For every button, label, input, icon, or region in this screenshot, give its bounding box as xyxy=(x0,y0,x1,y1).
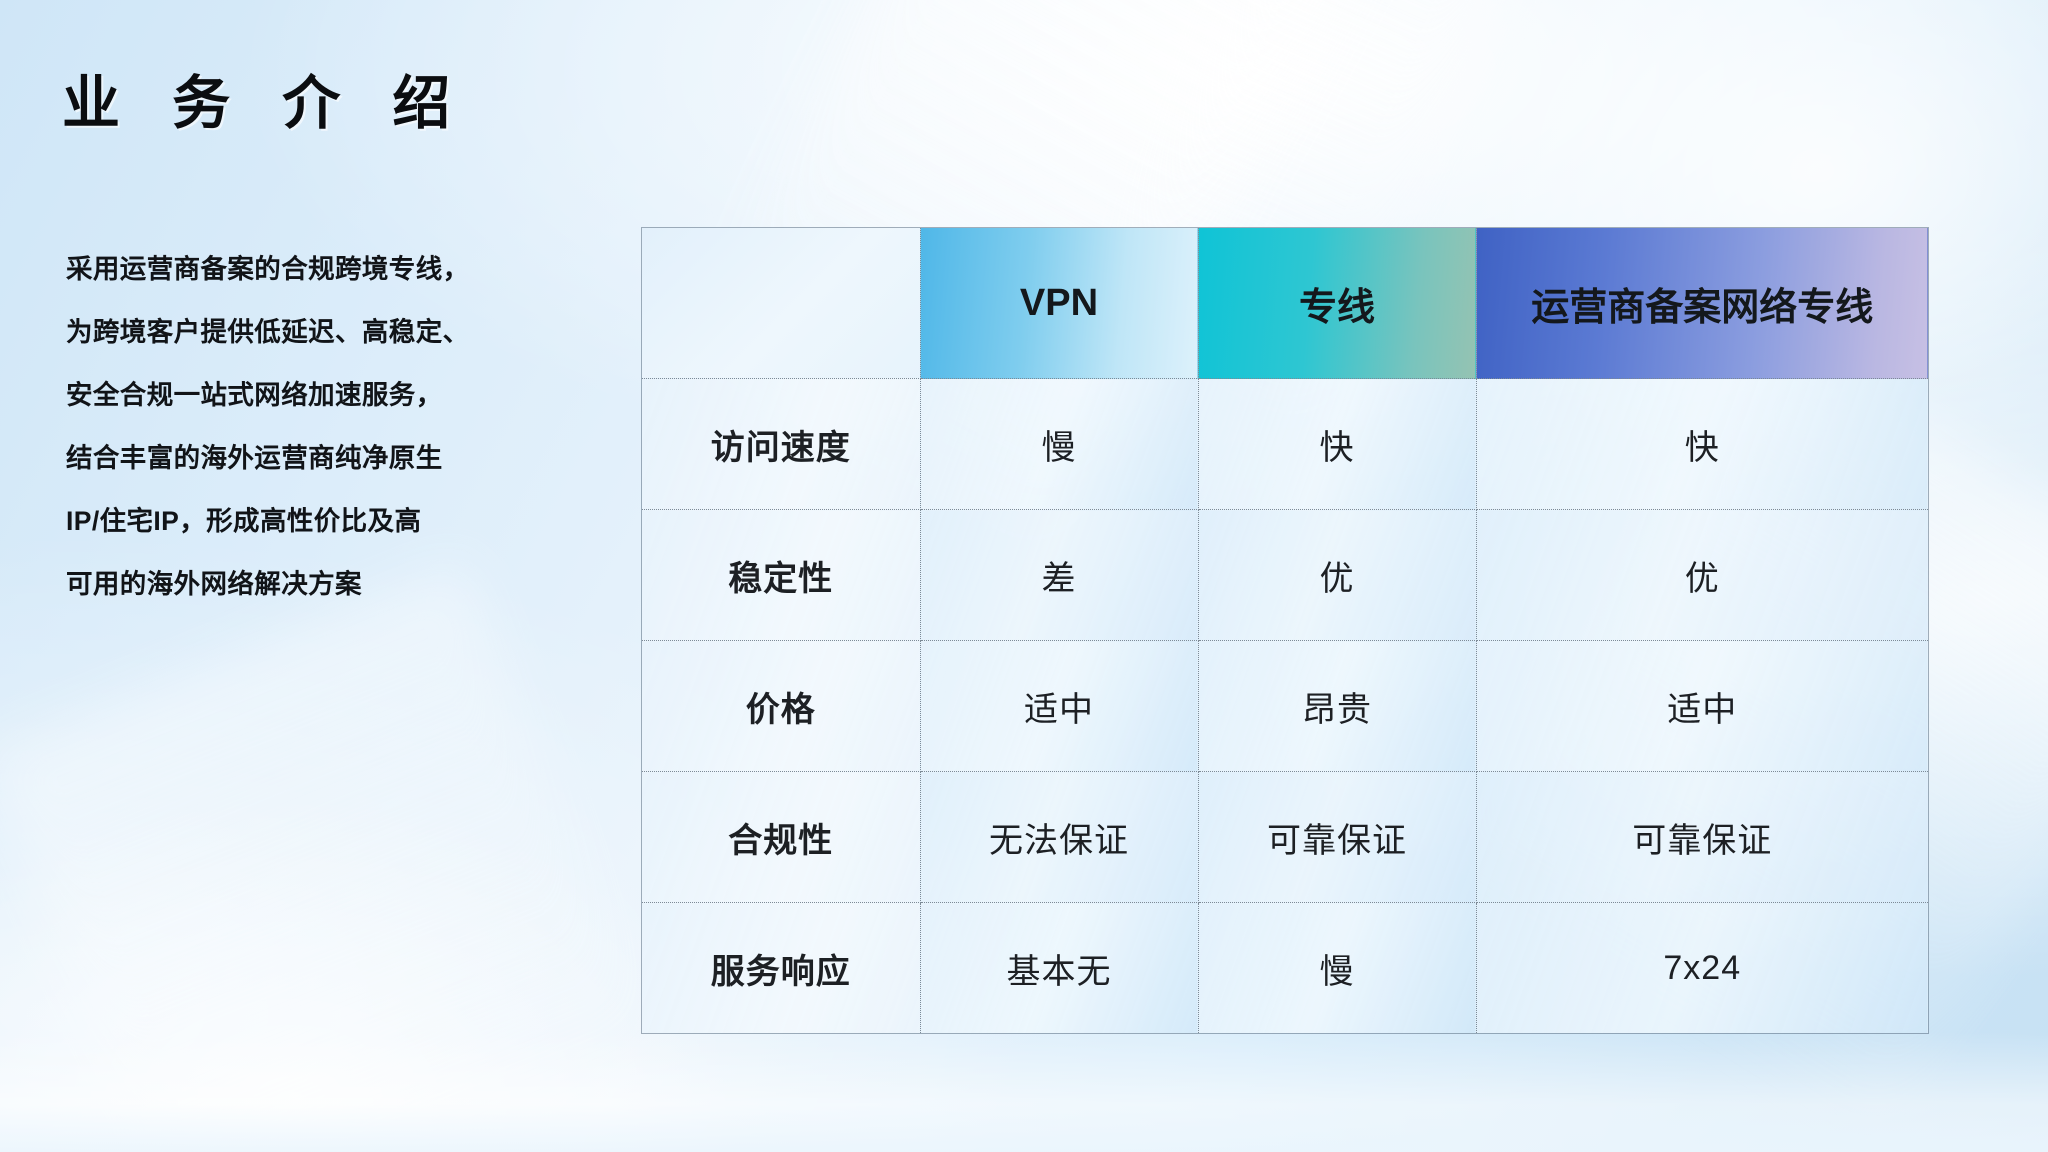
cell-filed-line: 优 xyxy=(1476,510,1928,641)
table-header-cell-vpn: VPN xyxy=(920,228,1198,379)
cell-vpn: 适中 xyxy=(920,641,1198,772)
intro-line: 安全合规一站式网络加速服务， xyxy=(66,364,486,427)
background-light-streak xyxy=(0,562,658,1152)
row-metric-label: 价格 xyxy=(642,641,920,772)
intro-line: IP/住宅IP，形成高性价比及高 xyxy=(66,490,486,553)
cell-filed-line: 7x24 xyxy=(1476,903,1928,1034)
table-header-cell-dedicated-line: 专线 xyxy=(1198,228,1476,379)
intro-line: 采用运营商备案的合规跨境专线， xyxy=(66,238,486,301)
row-metric-label: 合规性 xyxy=(642,772,920,903)
table-row: 价格 适中 昂贵 适中 xyxy=(642,641,1928,772)
comparison-table: VPN 专线 运营商备案网络专线 访问速度 慢 快 快 稳定性 差 优 优 价格… xyxy=(642,228,1928,1033)
cell-vpn: 基本无 xyxy=(920,903,1198,1034)
table-header-cell-filed-line: 运营商备案网络专线 xyxy=(1476,228,1928,379)
intro-paragraph: 采用运营商备案的合规跨境专线， 为跨境客户提供低延迟、高稳定、 安全合规一站式网… xyxy=(66,238,486,616)
cell-dedicated-line: 可靠保证 xyxy=(1198,772,1476,903)
slide-canvas: 业 务 介 绍 采用运营商备案的合规跨境专线， 为跨境客户提供低延迟、高稳定、 … xyxy=(0,0,2048,1152)
row-metric-label: 服务响应 xyxy=(642,903,920,1034)
background-glow-bottom-left xyxy=(0,792,740,1152)
table-header-row: VPN 专线 运营商备案网络专线 xyxy=(642,228,1928,379)
table-row: 访问速度 慢 快 快 xyxy=(642,379,1928,510)
intro-line: 可用的海外网络解决方案 xyxy=(66,553,486,616)
cell-dedicated-line: 慢 xyxy=(1198,903,1476,1034)
cell-filed-line: 快 xyxy=(1476,379,1928,510)
table-row: 服务响应 基本无 慢 7x24 xyxy=(642,903,1928,1034)
cell-vpn: 无法保证 xyxy=(920,772,1198,903)
intro-line: 为跨境客户提供低延迟、高稳定、 xyxy=(66,301,486,364)
row-metric-label: 稳定性 xyxy=(642,510,920,641)
table-row: 稳定性 差 优 优 xyxy=(642,510,1928,641)
table-body: 访问速度 慢 快 快 稳定性 差 优 优 价格 适中 昂贵 适中 合规性 无法保… xyxy=(642,379,1928,1034)
cell-vpn: 差 xyxy=(920,510,1198,641)
cell-vpn: 慢 xyxy=(920,379,1198,510)
background-bottom-band xyxy=(0,1032,2048,1152)
table-row: 合规性 无法保证 可靠保证 可靠保证 xyxy=(642,772,1928,903)
intro-line: 结合丰富的海外运营商纯净原生 xyxy=(66,427,486,490)
row-metric-label: 访问速度 xyxy=(642,379,920,510)
cell-dedicated-line: 快 xyxy=(1198,379,1476,510)
page-title: 业 务 介 绍 xyxy=(62,56,468,140)
cell-dedicated-line: 昂贵 xyxy=(1198,641,1476,772)
table-header: VPN 专线 运营商备案网络专线 xyxy=(642,228,1928,379)
table-header-cell-blank xyxy=(642,228,920,379)
cell-dedicated-line: 优 xyxy=(1198,510,1476,641)
cell-filed-line: 适中 xyxy=(1476,641,1928,772)
cell-filed-line: 可靠保证 xyxy=(1476,772,1928,903)
